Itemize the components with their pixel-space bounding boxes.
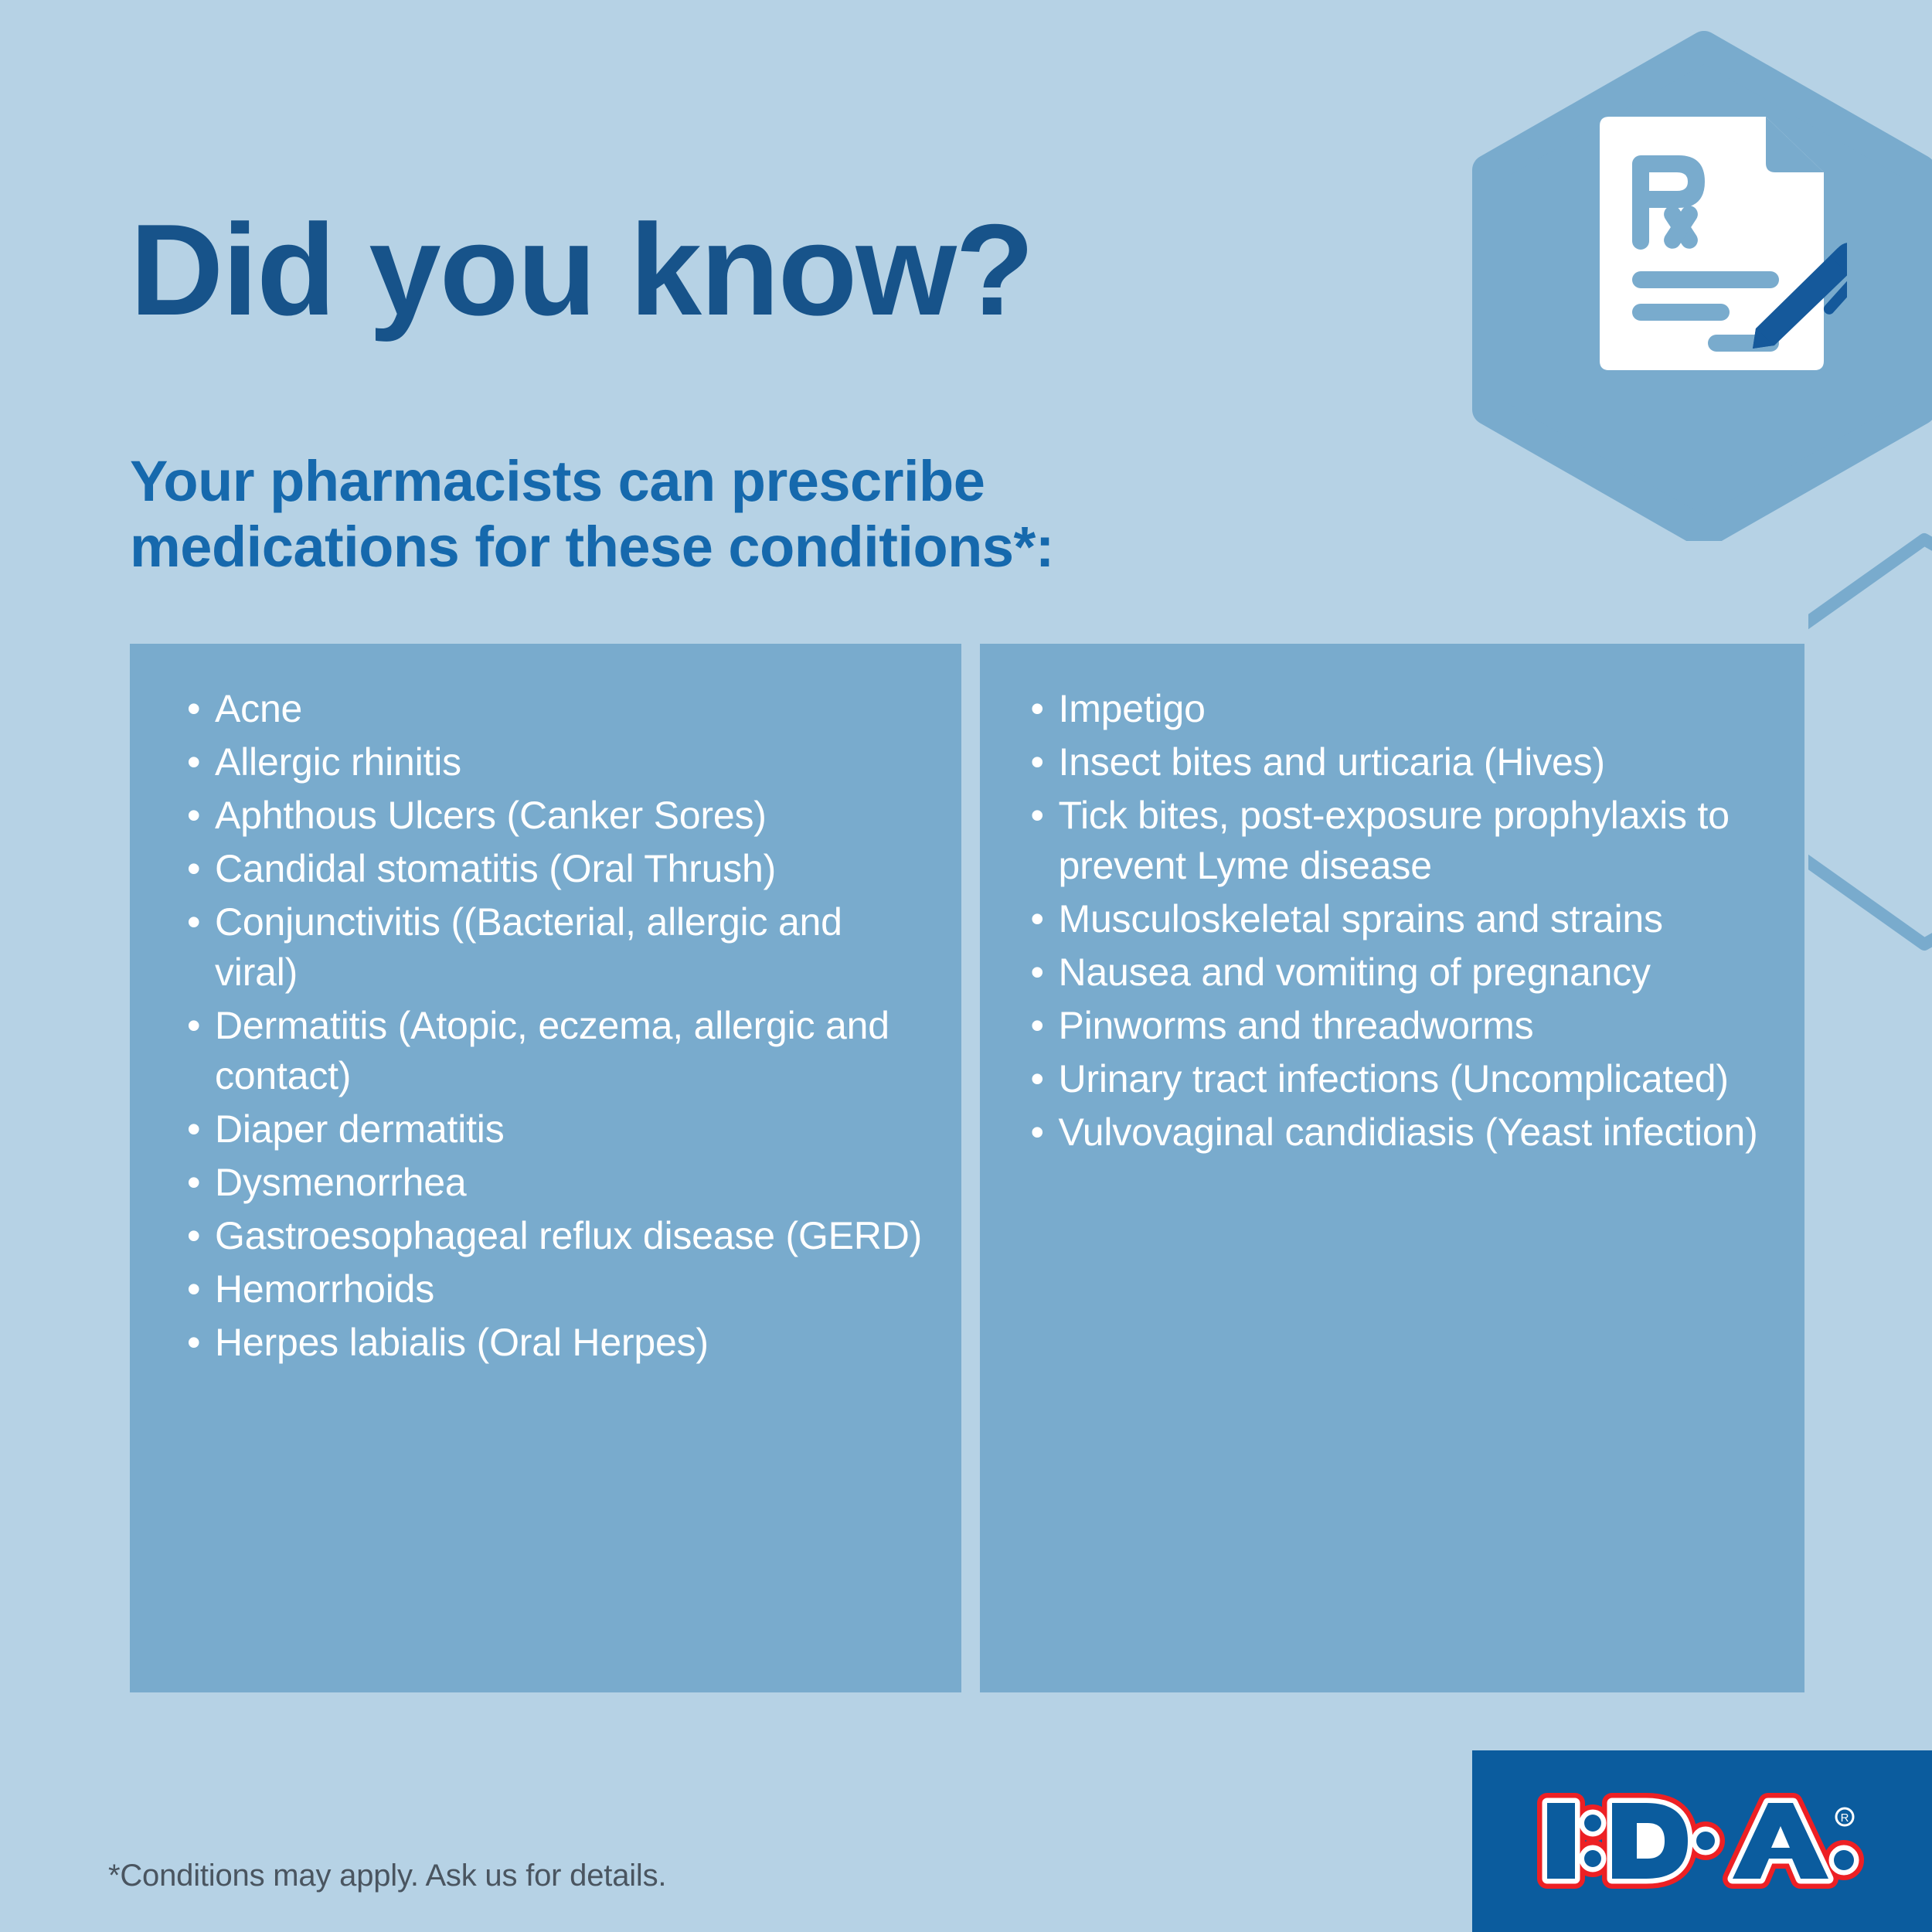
condition-label: Insect bites and urticaria (Hives) bbox=[1059, 740, 1605, 784]
list-item: •Aphthous Ulcers (Canker Sores) bbox=[185, 791, 930, 841]
list-item: •Conjunctivitis ((Bacterial, allergic an… bbox=[185, 897, 930, 998]
condition-label: Dermatitis (Atopic, eczema, allergic and… bbox=[215, 1004, 889, 1097]
bullet-icon: • bbox=[1031, 1107, 1044, 1158]
list-item: •Pinworms and threadworms bbox=[1029, 1001, 1774, 1051]
bullet-icon: • bbox=[1031, 1001, 1044, 1051]
prescription-document-icon bbox=[1592, 112, 1847, 375]
condition-label: Impetigo bbox=[1059, 687, 1206, 730]
bullet-icon: • bbox=[187, 737, 200, 787]
hexagon-outline-shape bbox=[1808, 526, 1932, 958]
condition-label: Allergic rhinitis bbox=[215, 740, 461, 784]
condition-label: Nausea and vomiting of pregnancy bbox=[1059, 951, 1651, 994]
condition-label: Vulvovaginal candidiasis (Yeast infectio… bbox=[1059, 1111, 1758, 1154]
list-item: •Gastroesophageal reflux disease (GERD) bbox=[185, 1211, 930, 1261]
bullet-icon: • bbox=[1031, 791, 1044, 841]
condition-label: Aphthous Ulcers (Canker Sores) bbox=[215, 794, 767, 837]
bullet-icon: • bbox=[187, 1318, 200, 1368]
condition-label: Dysmenorrhea bbox=[215, 1161, 467, 1204]
conditions-list-left: •Acne •Allergic rhinitis •Aphthous Ulcer… bbox=[185, 684, 930, 1368]
list-item: •Nausea and vomiting of pregnancy bbox=[1029, 947, 1774, 998]
hexagon-shape bbox=[1472, 31, 1932, 541]
list-item: •Tick bites, post-exposure prophylaxis t… bbox=[1029, 791, 1774, 891]
bullet-icon: • bbox=[187, 791, 200, 841]
bullet-icon: • bbox=[187, 1264, 200, 1315]
conditions-list-right: •Impetigo •Insect bites and urticaria (H… bbox=[1029, 684, 1774, 1158]
bullet-icon: • bbox=[187, 844, 200, 894]
svg-text:R: R bbox=[1840, 1811, 1849, 1825]
list-item: •Impetigo bbox=[1029, 684, 1774, 734]
condition-label: Urinary tract infections (Uncomplicated) bbox=[1059, 1057, 1729, 1100]
bullet-icon: • bbox=[1031, 684, 1044, 734]
list-item: •Vulvovaginal candidiasis (Yeast infecti… bbox=[1029, 1107, 1774, 1158]
page-subtitle-line-1: Your pharmacists can prescribe bbox=[130, 449, 1054, 514]
list-item: •Urinary tract infections (Uncomplicated… bbox=[1029, 1054, 1774, 1104]
bullet-icon: • bbox=[187, 1211, 200, 1261]
list-item: •Dysmenorrhea bbox=[185, 1158, 930, 1208]
pen-icon bbox=[1753, 243, 1847, 349]
condition-label: Candidal stomatitis (Oral Thrush) bbox=[215, 847, 776, 890]
page-subtitle-line-2: medications for these conditions*: bbox=[130, 515, 1054, 580]
bullet-icon: • bbox=[187, 1158, 200, 1208]
list-item: •Acne bbox=[185, 684, 930, 734]
list-item: •Allergic rhinitis bbox=[185, 737, 930, 787]
list-item: •Hemorrhoids bbox=[185, 1264, 930, 1315]
conditions-panel-left: •Acne •Allergic rhinitis •Aphthous Ulcer… bbox=[130, 644, 961, 1692]
bullet-icon: • bbox=[187, 1001, 200, 1051]
page-title: Did you know? bbox=[130, 205, 1033, 335]
bullet-icon: • bbox=[187, 684, 200, 734]
ida-wordmark-icon: R bbox=[1536, 1789, 1869, 1893]
condition-label: Hemorrhoids bbox=[215, 1267, 434, 1311]
registered-mark-icon: R bbox=[1836, 1808, 1853, 1825]
infographic-poster: Did you know? Your pharmacists can presc… bbox=[0, 0, 1932, 1932]
footnote-text: *Conditions may apply. Ask us for detail… bbox=[108, 1859, 666, 1893]
list-item: •Diaper dermatitis bbox=[185, 1104, 930, 1155]
page-subtitle: Your pharmacists can prescribe medicatio… bbox=[130, 449, 1054, 580]
rx-glyph bbox=[1632, 155, 1705, 252]
bullet-icon: • bbox=[187, 897, 200, 947]
condition-label: Tick bites, post-exposure prophylaxis to… bbox=[1059, 794, 1730, 887]
list-item: •Musculoskeletal sprains and strains bbox=[1029, 894, 1774, 944]
conditions-panel-right: •Impetigo •Insect bites and urticaria (H… bbox=[980, 644, 1805, 1692]
bullet-icon: • bbox=[1031, 1054, 1044, 1104]
bullet-icon: • bbox=[1031, 947, 1044, 998]
bullet-icon: • bbox=[1031, 894, 1044, 944]
condition-label: Conjunctivitis ((Bacterial, allergic and… bbox=[215, 900, 842, 994]
conditions-panels: •Acne •Allergic rhinitis •Aphthous Ulcer… bbox=[130, 644, 1804, 1692]
list-item: •Dermatitis (Atopic, eczema, allergic an… bbox=[185, 1001, 930, 1101]
condition-label: Musculoskeletal sprains and strains bbox=[1059, 897, 1663, 940]
list-item: •Candidal stomatitis (Oral Thrush) bbox=[185, 844, 930, 894]
ida-logo: R bbox=[1472, 1750, 1932, 1932]
list-item: •Herpes labialis (Oral Herpes) bbox=[185, 1318, 930, 1368]
list-item: •Insect bites and urticaria (Hives) bbox=[1029, 737, 1774, 787]
bullet-icon: • bbox=[1031, 737, 1044, 787]
condition-label: Herpes labialis (Oral Herpes) bbox=[215, 1321, 709, 1364]
condition-label: Gastroesophageal reflux disease (GERD) bbox=[215, 1214, 922, 1257]
condition-label: Diaper dermatitis bbox=[215, 1107, 505, 1151]
condition-label: Acne bbox=[215, 687, 302, 730]
bullet-icon: • bbox=[187, 1104, 200, 1155]
condition-label: Pinworms and threadworms bbox=[1059, 1004, 1534, 1047]
